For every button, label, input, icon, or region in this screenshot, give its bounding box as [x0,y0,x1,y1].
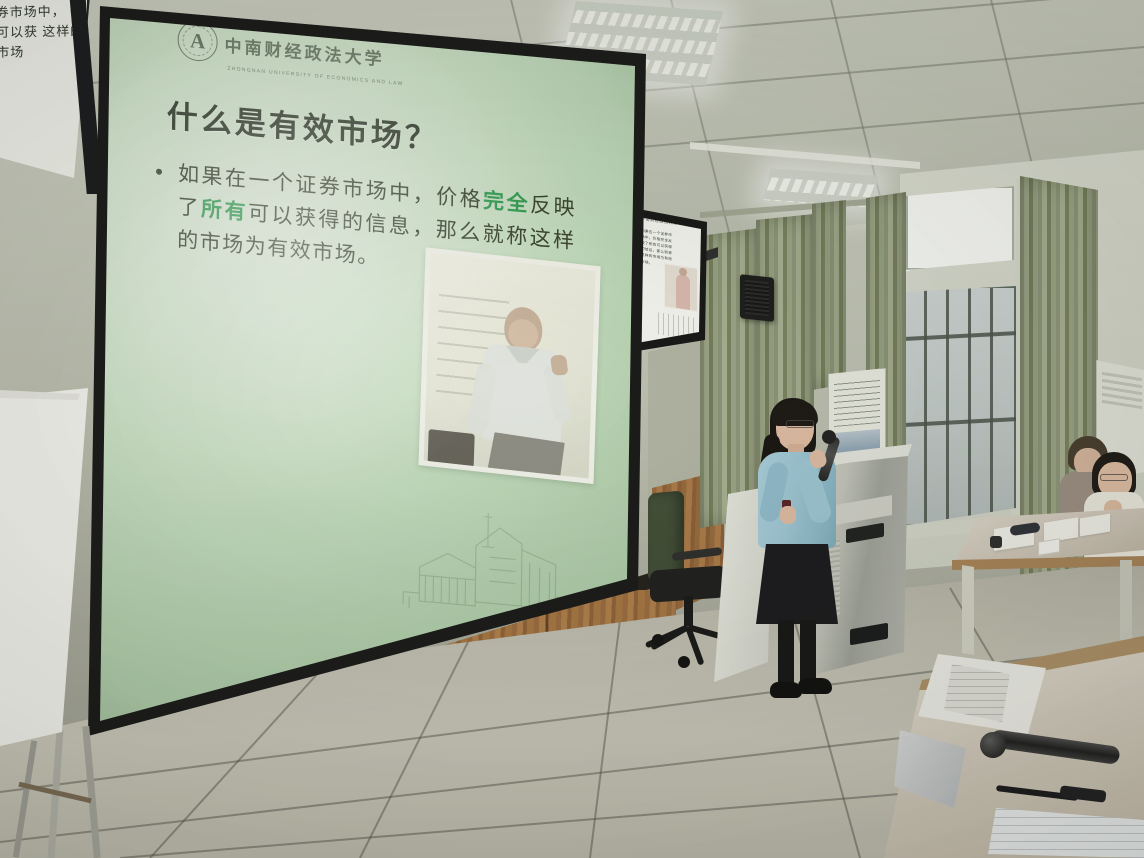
desk-microphone-rear[interactable] [1009,522,1040,536]
desk-name-plate [1038,538,1060,555]
curtain-panel-3 [812,200,846,390]
presenter-skirt [756,544,838,624]
highlight-suoyou: 所有 [201,197,248,225]
presenter-glasses [786,420,814,428]
office-chair-backrest[interactable] [648,490,684,579]
classroom-photo-scene: 中南财经政法大学 如果在一个证券市场中，价格完全反映了所有可以获得的信息，那么就… [0,0,1144,858]
chair-caster-3 [678,656,690,668]
air-conditioner-vent [1102,369,1142,409]
bullet-dot-icon [156,168,162,175]
wall-speaker [740,274,774,322]
presenter-hand-clicker [780,506,796,524]
presenter-person [744,396,864,714]
photo-lecturer-figure [475,303,569,485]
tv-slide-photo [664,263,698,312]
desk-paper-3 [1080,514,1110,537]
chair-caster-2 [652,634,664,646]
tv-photo-figure [676,274,690,310]
student-glasses [1100,474,1128,481]
window-lower-pane-barred [904,286,1016,526]
student-desk-rear-leg-right [1120,560,1132,640]
crest-letter: A [190,30,205,52]
window-upper-pane [906,186,1014,270]
presenter-shoe-right [798,678,832,694]
highlight-wanquan: 完全 [483,188,530,216]
student-desk-rear-leg-left [962,565,974,655]
presenter-leg-left [778,620,794,688]
office-chair-post [684,596,693,626]
desk-small-object [990,536,1002,548]
slide-embedded-photo [419,247,601,484]
photo-bag [428,429,475,468]
slide-title: 什么是有效市场？ [166,90,439,159]
